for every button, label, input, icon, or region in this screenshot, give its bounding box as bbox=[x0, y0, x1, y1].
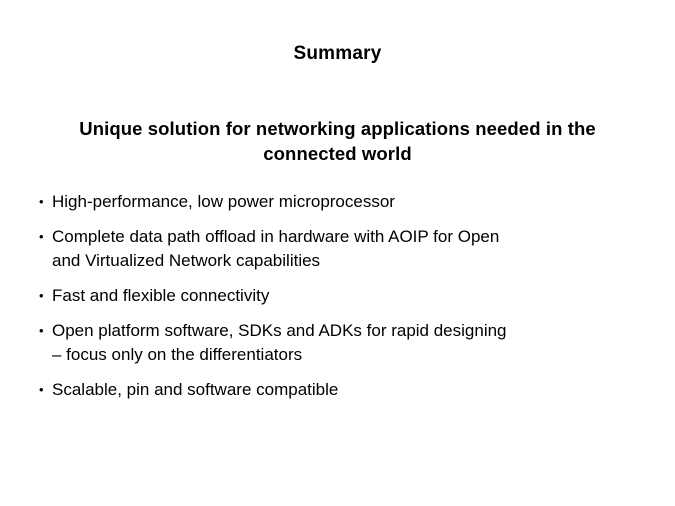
list-item: • Open platform software, SDKs and ADKs … bbox=[38, 319, 638, 367]
slide-canvas: Summary Unique solution for networking a… bbox=[0, 0, 675, 506]
bullet-point-icon: • bbox=[39, 190, 49, 214]
bullet-point-icon: • bbox=[39, 284, 49, 308]
list-item-text: Scalable, pin and software compatible bbox=[52, 378, 638, 402]
list-item-text: Open platform software, SDKs and ADKs fo… bbox=[52, 319, 638, 367]
bullet-point-icon: • bbox=[39, 378, 49, 402]
list-item: • Complete data path offload in hardware… bbox=[38, 225, 638, 273]
page-title: Summary bbox=[0, 43, 675, 65]
list-item: • Fast and flexible connectivity bbox=[38, 284, 638, 308]
list-item-text: High-performance, low power microprocess… bbox=[52, 190, 638, 214]
summary-bullet-list: • High-performance, low power microproce… bbox=[38, 190, 638, 402]
bullet-point-icon: • bbox=[39, 225, 49, 249]
list-item-text: Complete data path offload in hardware w… bbox=[52, 225, 638, 273]
list-item: • High-performance, low power microproce… bbox=[38, 190, 638, 214]
list-item-text: Fast and flexible connectivity bbox=[52, 284, 638, 308]
slide-headline: Unique solution for networking applicati… bbox=[50, 116, 625, 166]
bullet-point-icon: • bbox=[39, 319, 49, 343]
list-item: • Scalable, pin and software compatible bbox=[38, 378, 638, 402]
